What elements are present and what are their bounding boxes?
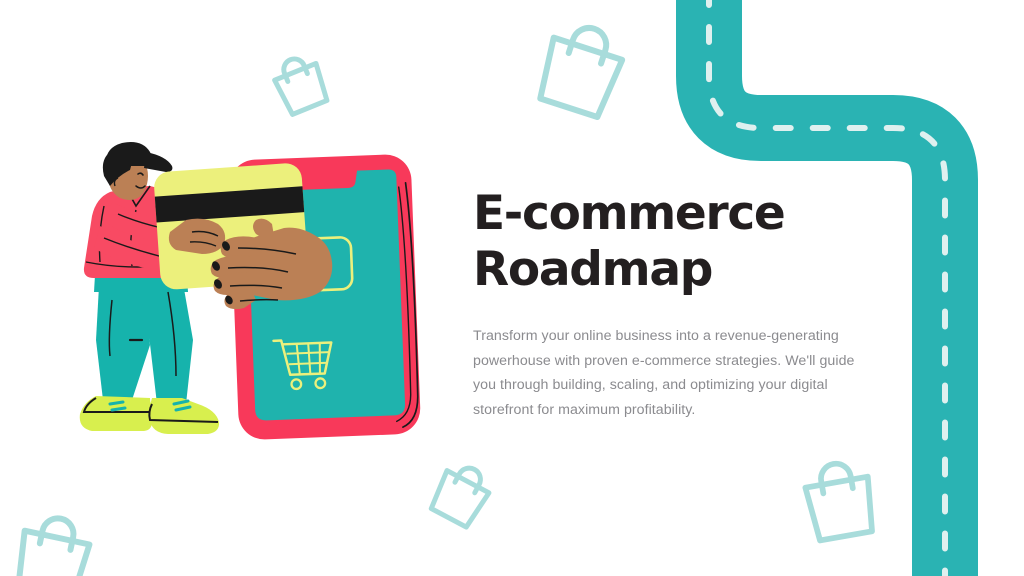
text-column: E-commerce Roadmap Transform your online… <box>473 186 873 446</box>
person-shoe-back <box>80 396 152 431</box>
page-description: Transform your online business into a re… <box>473 324 865 422</box>
person-shoe-front <box>149 398 219 434</box>
page-title: E-commerce Roadmap <box>473 186 873 298</box>
slide-root: E-commerce Roadmap Transform your online… <box>0 0 1024 576</box>
person-cap-brim <box>144 152 172 172</box>
